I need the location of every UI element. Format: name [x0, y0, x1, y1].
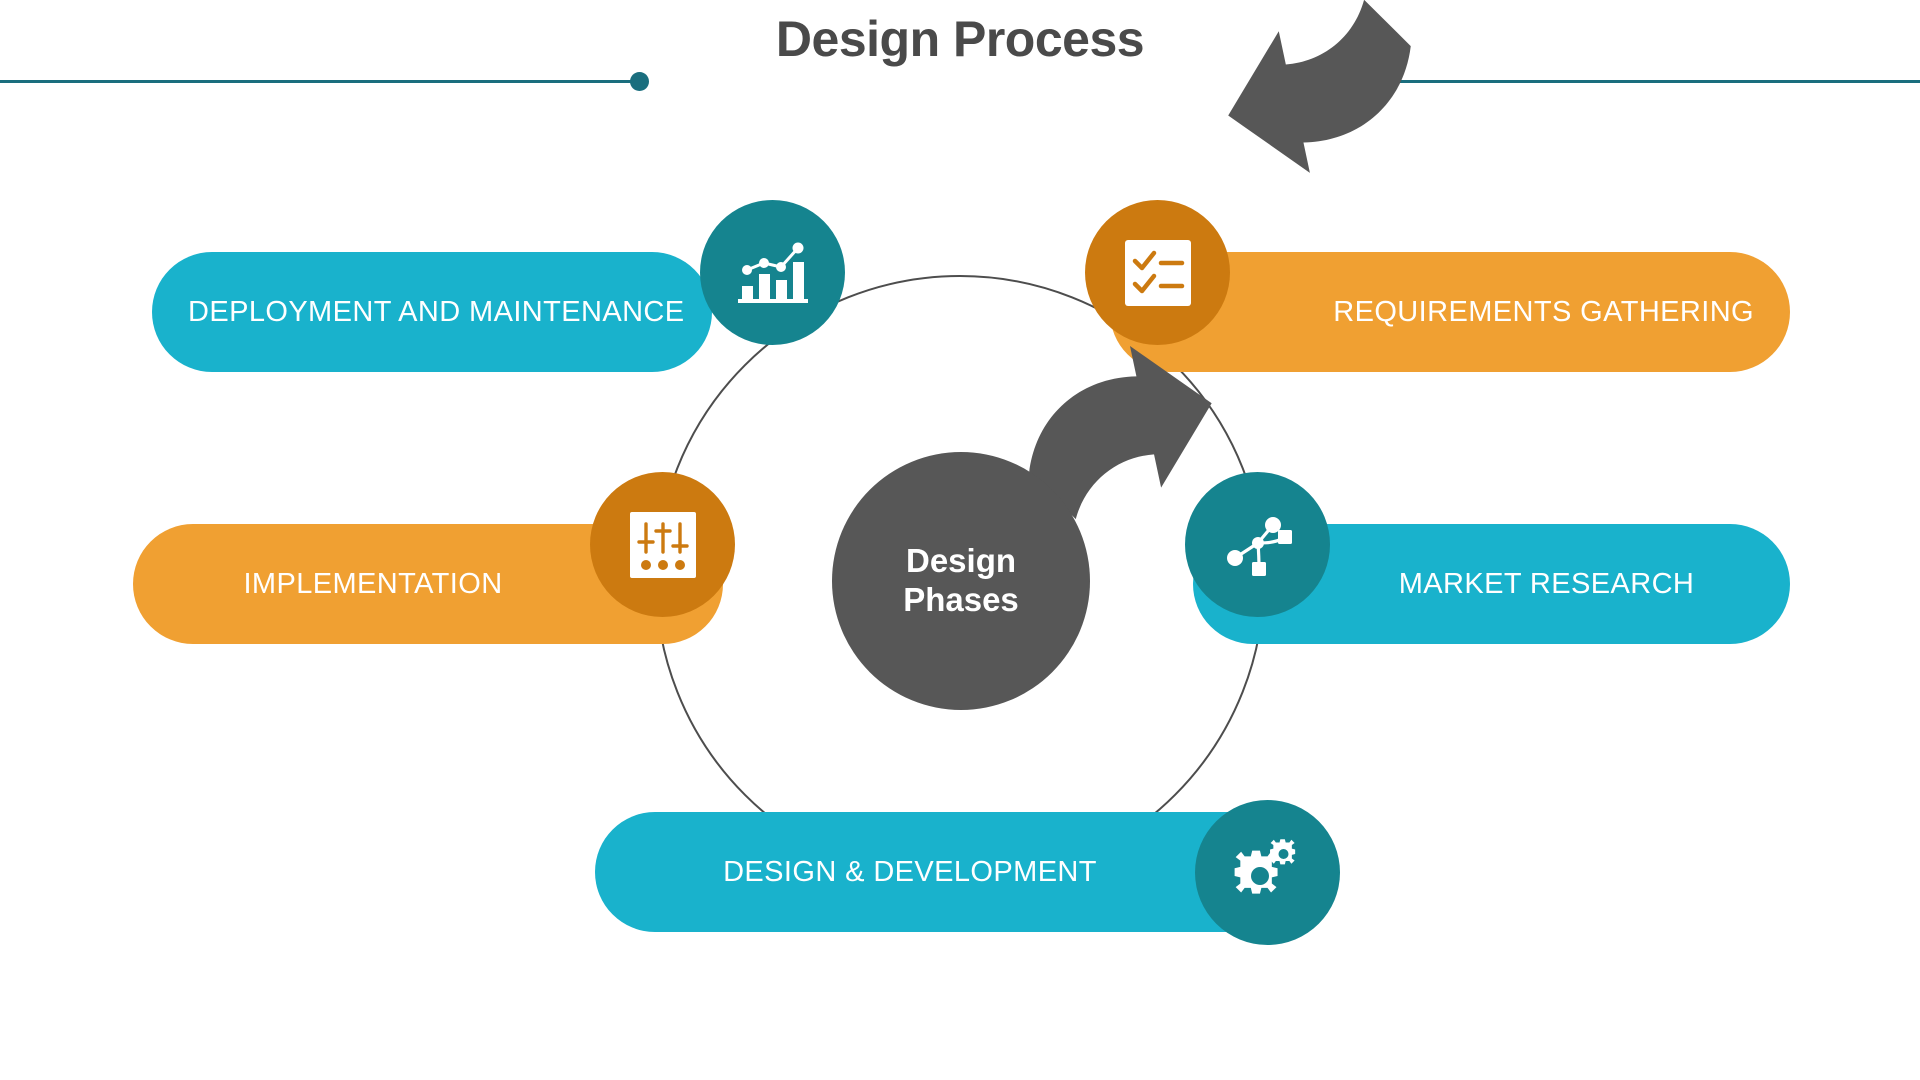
- page-title: Design Process: [0, 12, 1920, 67]
- node-design-development[interactable]: [1195, 800, 1340, 945]
- checklist-icon: [1125, 240, 1191, 306]
- network-nodes-icon: [1223, 511, 1293, 579]
- center-label-line2: Phases: [903, 581, 1019, 620]
- node-market-research[interactable]: [1185, 472, 1330, 617]
- title-rule-right: [1281, 80, 1920, 83]
- slide-canvas: Design Process DEPLOYMENT AND MAINTENANC…: [0, 0, 1920, 1080]
- pill-label-deployment-maintenance: DEPLOYMENT AND MAINTENANCE: [152, 296, 712, 329]
- title-rule-left: [0, 80, 640, 83]
- bar-chart-trend-icon: [738, 242, 808, 304]
- gears-icon: [1231, 838, 1305, 908]
- pill-deployment-maintenance[interactable]: DEPLOYMENT AND MAINTENANCE: [152, 252, 712, 372]
- title-rule-dot-right: [1272, 72, 1291, 91]
- node-deployment-maintenance[interactable]: [700, 200, 845, 345]
- node-implementation[interactable]: [590, 472, 735, 617]
- center-label-disc: Design Phases: [832, 452, 1090, 710]
- sliders-icon: [630, 512, 696, 578]
- center-label-line1: Design: [906, 542, 1016, 581]
- node-requirements-gathering[interactable]: [1085, 200, 1230, 345]
- title-rule-dot-left: [630, 72, 649, 91]
